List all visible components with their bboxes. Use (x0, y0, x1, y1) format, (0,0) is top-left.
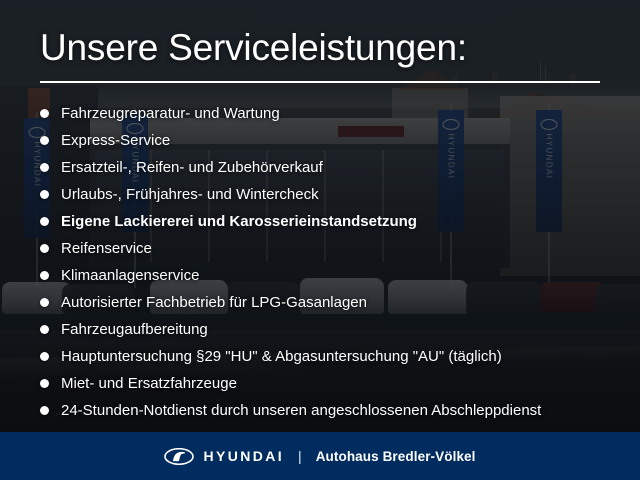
page-title: Unsere Serviceleistungen: (40, 26, 467, 70)
service-label: Urlaubs-, Frühjahres- und Wintercheck (61, 181, 319, 208)
dealer-name: Autohaus Bredler-Völkel (316, 449, 476, 464)
bullet-icon (40, 352, 49, 361)
service-label: Autorisierter Fachbetrieb für LPG-Gasanl… (61, 289, 367, 316)
poster-content: Unsere Serviceleistungen: Fahrzeugrepara… (0, 0, 640, 480)
service-label: Fahrzeugaufbereitung (61, 316, 208, 343)
hyundai-wordmark: HYUNDAI (203, 448, 284, 464)
services-list: Fahrzeugreparatur- und WartungExpress-Se… (40, 100, 620, 424)
service-label: Express-Service (61, 127, 170, 154)
bullet-icon (40, 109, 49, 118)
bullet-icon (40, 325, 49, 334)
brand-footer-bar: HYUNDAI | Autohaus Bredler-Völkel (0, 432, 640, 480)
bullet-icon (40, 271, 49, 280)
service-list-item: Reifenservice (40, 235, 620, 262)
service-list-item: Miet- und Ersatzfahrzeuge (40, 370, 620, 397)
bullet-icon (40, 163, 49, 172)
bullet-icon (40, 217, 49, 226)
service-list-item: 24-Stunden-Notdienst durch unseren anges… (40, 397, 620, 424)
service-list-item: Eigene Lackiererei und Karosserieinstand… (40, 208, 620, 235)
service-list-item: Fahrzeugaufbereitung (40, 316, 620, 343)
service-list-item: Hauptuntersuchung §29 "HU" & Abgasunters… (40, 343, 620, 370)
footer-separator: | (293, 448, 307, 464)
service-list-item: Express-Service (40, 127, 620, 154)
bullet-icon (40, 406, 49, 415)
hyundai-logo-icon (164, 448, 194, 465)
bullet-icon (40, 190, 49, 199)
service-list-item: Ersatzteil-, Reifen- und Zubehörverkauf (40, 154, 620, 181)
service-list-item: Fahrzeugreparatur- und Wartung (40, 100, 620, 127)
title-underline-rule (40, 81, 600, 83)
bullet-icon (40, 298, 49, 307)
service-label: Hauptuntersuchung §29 "HU" & Abgasunters… (61, 343, 502, 370)
bullet-icon (40, 244, 49, 253)
service-label: Klimaanlagenservice (61, 262, 199, 289)
service-label: Miet- und Ersatzfahrzeuge (61, 370, 237, 397)
service-label: Fahrzeugreparatur- und Wartung (61, 100, 280, 127)
service-list-item: Klimaanlagenservice (40, 262, 620, 289)
service-label: Eigene Lackiererei und Karosserieinstand… (61, 208, 417, 235)
service-label: Ersatzteil-, Reifen- und Zubehörverkauf (61, 154, 323, 181)
service-label: Reifenservice (61, 235, 152, 262)
service-poster: HYUNDAI HYUNDAI HYUNDAI HYUNDAI Unsere S… (0, 0, 640, 480)
service-list-item: Autorisierter Fachbetrieb für LPG-Gasanl… (40, 289, 620, 316)
bullet-icon (40, 136, 49, 145)
service-label: 24-Stunden-Notdienst durch unseren anges… (61, 397, 541, 424)
service-list-item: Urlaubs-, Frühjahres- und Wintercheck (40, 181, 620, 208)
bullet-icon (40, 379, 49, 388)
